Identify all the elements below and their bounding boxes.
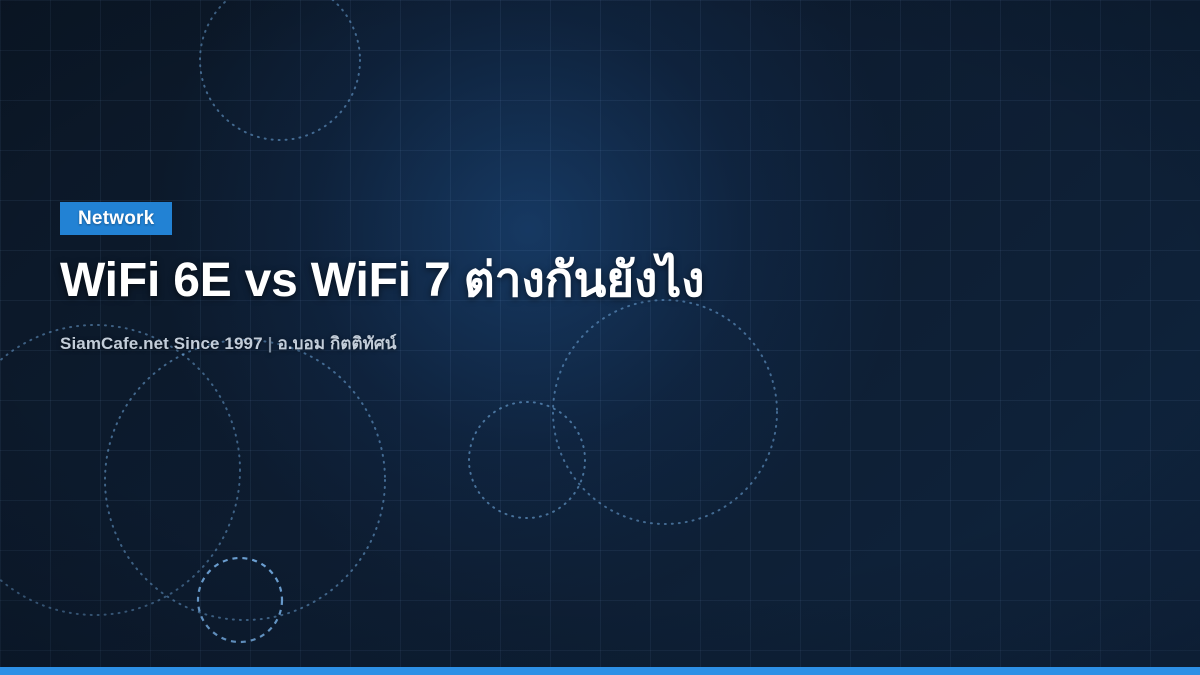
presentation-slide: Network WiFi 6E vs WiFi 7 ต่างกันยังไง S… (0, 0, 1200, 675)
bottom-accent-bar (0, 667, 1200, 675)
subtitle-separator: | (263, 334, 278, 353)
author-name: อ.บอม กิตติทัศน์ (277, 334, 396, 353)
slide-subtitle: SiamCafe.net Since 1997|อ.บอม กิตติทัศน์ (60, 330, 397, 357)
slide-title: WiFi 6E vs WiFi 7 ต่างกันยังไง (60, 255, 1120, 307)
brand-name: SiamCafe.net Since 1997 (60, 334, 263, 353)
category-badge: Network (60, 202, 172, 235)
slide-content: Network WiFi 6E vs WiFi 7 ต่างกันยังไง S… (60, 0, 1160, 675)
